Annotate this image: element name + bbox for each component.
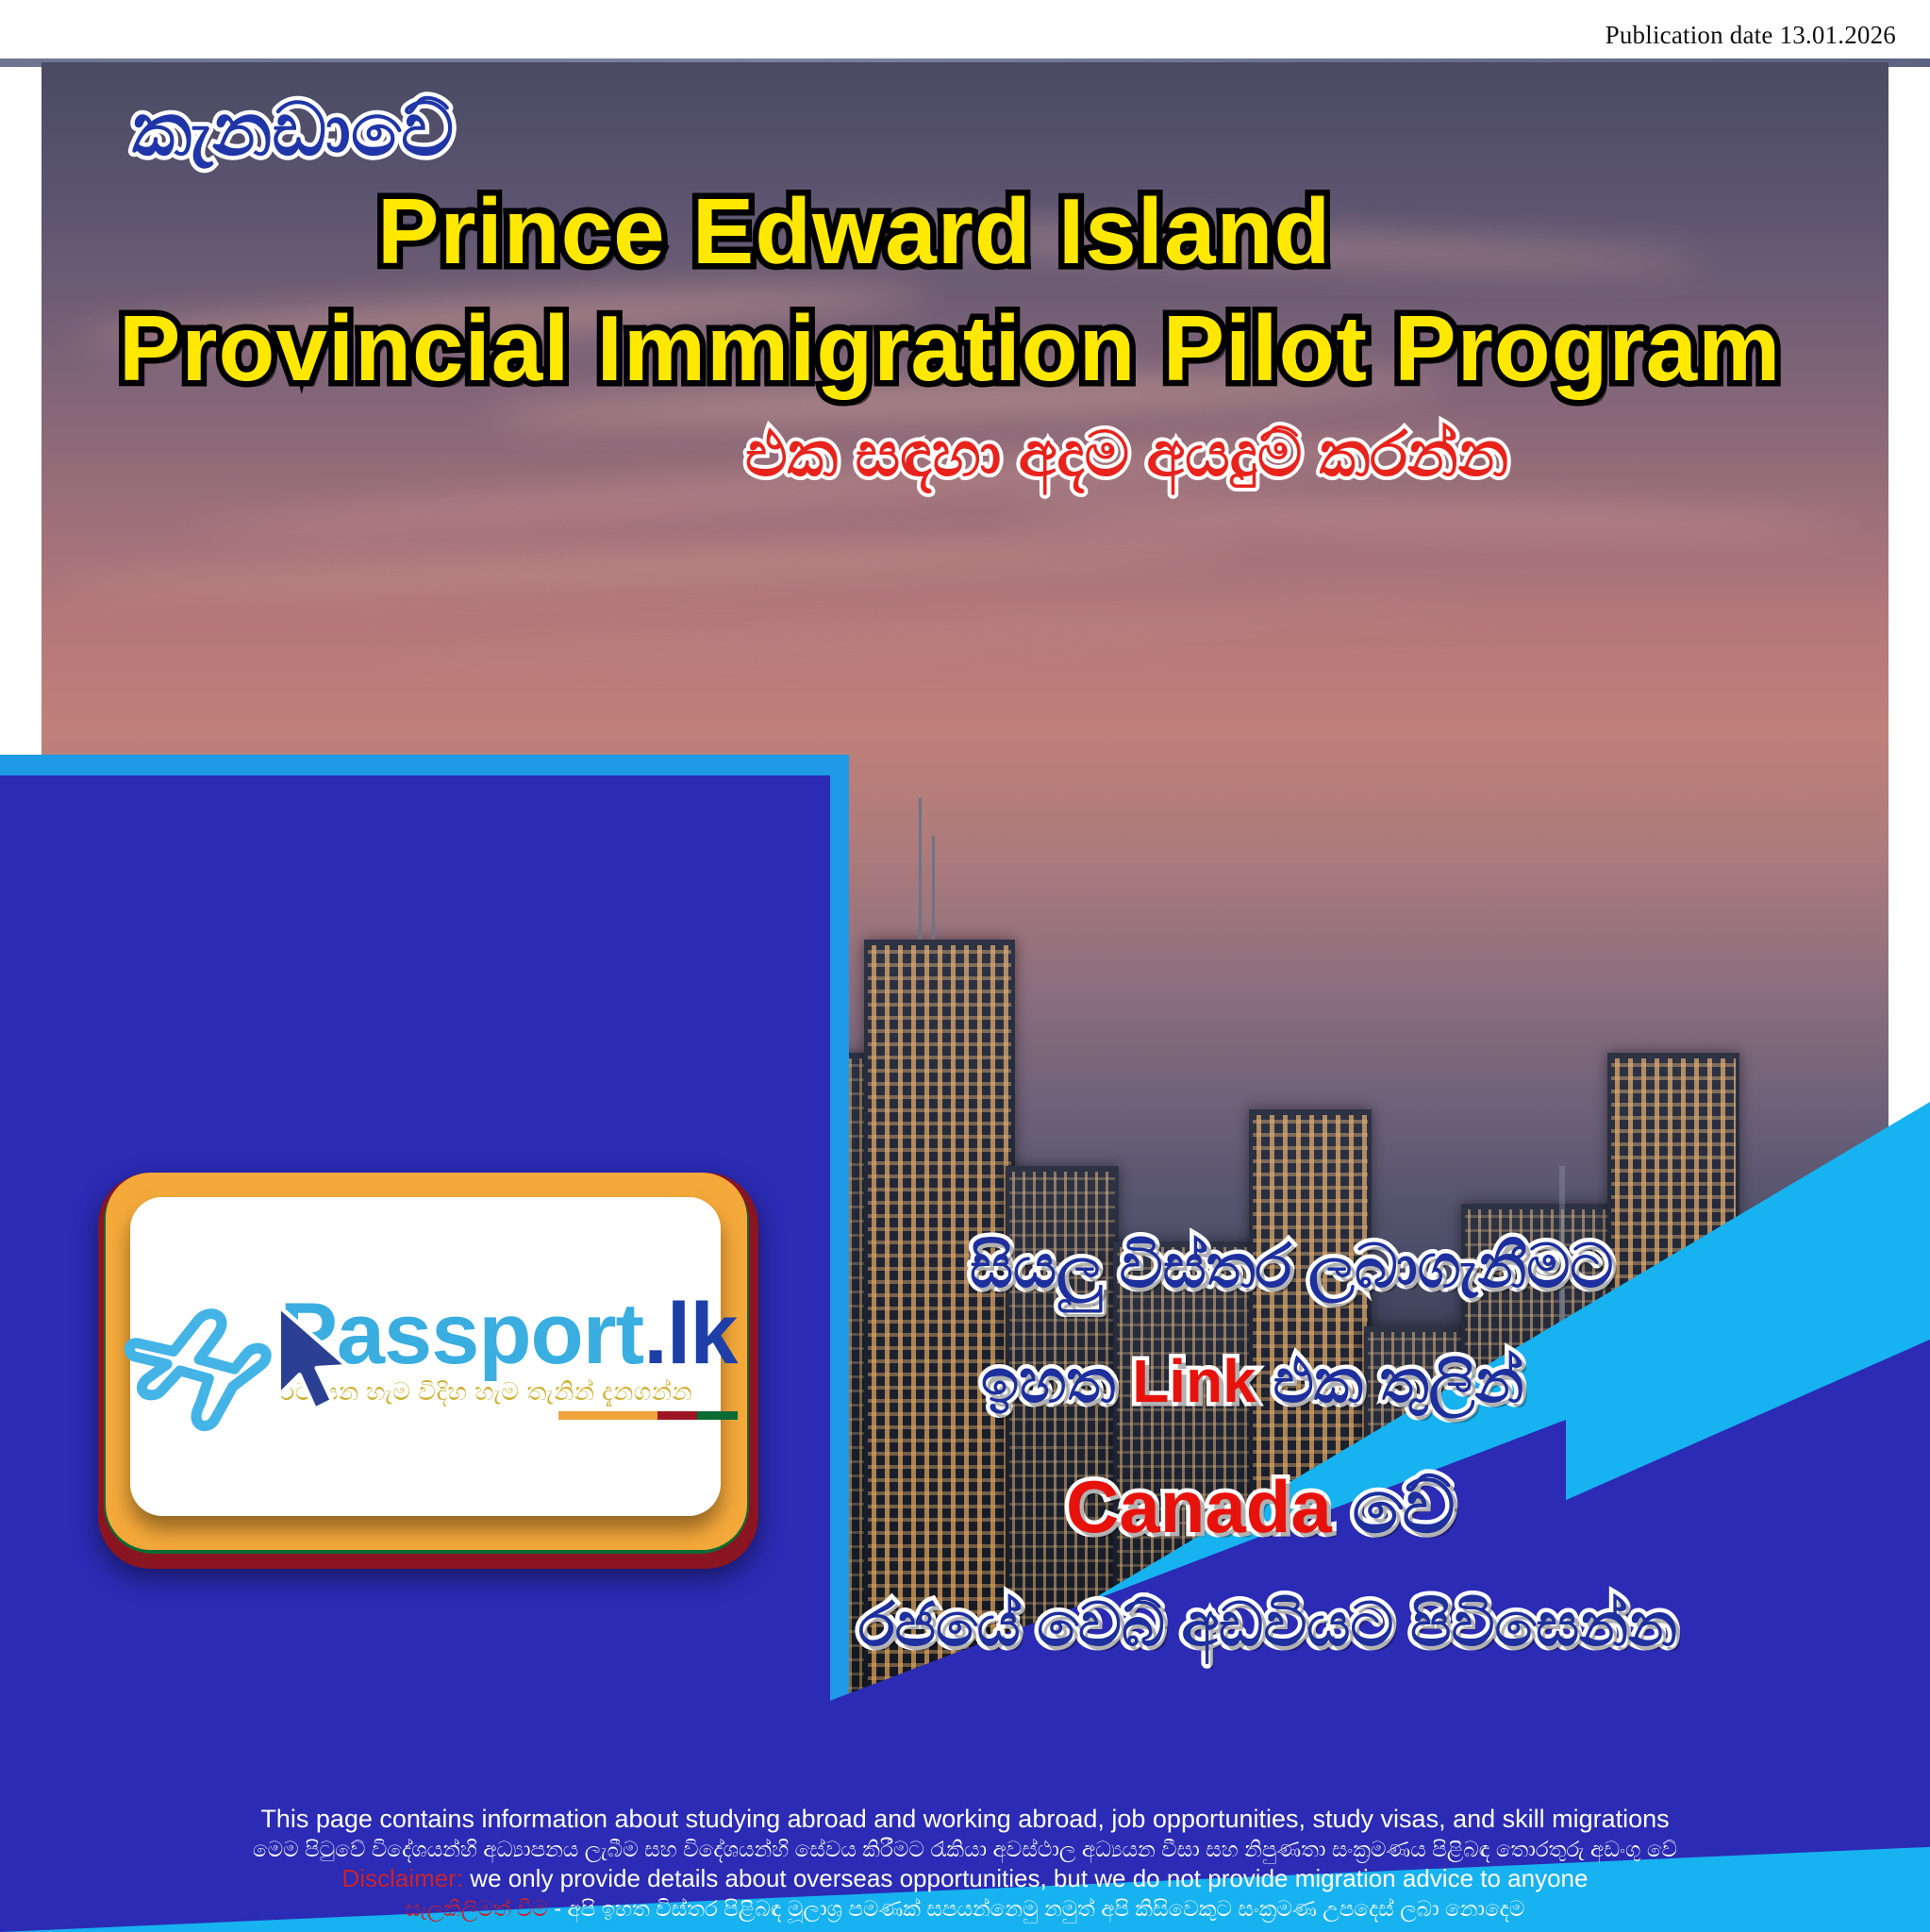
cta-line-canada: Canada වේ bbox=[1066, 1470, 1456, 1543]
headline-english-line2: Provincial Immigration Pilot Program bbox=[119, 302, 1781, 394]
cta-link-word[interactable]: Link bbox=[1132, 1347, 1256, 1415]
flag-stripe-orange bbox=[558, 1411, 658, 1420]
cta-link-after: එක තුලින් bbox=[1273, 1347, 1524, 1415]
disclaimer-si-label: සැලකිලිමත් වීම bbox=[406, 1896, 548, 1921]
poster-canvas: Publication date 13.01.2026 bbox=[0, 0, 1930, 1932]
cta-link-before: ඉහත bbox=[981, 1347, 1115, 1415]
footer-sinhala-info: මෙම පිටුවේ විදේශයන්හි අධ්‍යාපනය ලැබීම සහ… bbox=[0, 1836, 1930, 1863]
publication-date: Publication date 13.01.2026 bbox=[1606, 21, 1896, 50]
cta-canada-after: වේ bbox=[1352, 1465, 1455, 1548]
flag-stripe-red bbox=[657, 1411, 697, 1420]
disclaimer-si-body: - අපි ඉහත විස්තර පිළිබඳ මූලාශ්‍ර පමණක් ස… bbox=[548, 1896, 1524, 1921]
brand-name-tld: .lk bbox=[643, 1293, 737, 1375]
footer-disclaimer-en: Disclaimer: we only provide details abou… bbox=[0, 1863, 1930, 1894]
sri-lanka-flag-bar bbox=[558, 1411, 738, 1420]
cta-canada-word: Canada bbox=[1066, 1465, 1332, 1548]
headline-sinhala-red: එක සඳහා අදම අයදුම් කරන්න bbox=[745, 423, 1508, 485]
headline-english-line1: Prince Edward Island bbox=[377, 185, 1331, 277]
logo-card: Passport .lk රට යන හැම විදිහ හැම තැනින් … bbox=[98, 1173, 758, 1569]
flag-stripe-green bbox=[697, 1411, 737, 1420]
cta-line-govsite: රජයේ වෙබ් අඩවියට පිවිසෙන්න bbox=[858, 1594, 1677, 1655]
cta-line-link: ඉහත Link එක තුලින් bbox=[981, 1351, 1523, 1411]
antenna-mast bbox=[932, 836, 935, 940]
headline-sinhala-top: කැනඩාවේ bbox=[132, 92, 454, 166]
footer-disclaimer-si: සැලකිලිමත් වීම - අපි ඉහත විස්තර පිළිබඳ ම… bbox=[0, 1895, 1930, 1923]
airplane-icon bbox=[114, 1279, 275, 1440]
disclaimer-body: we only provide details about overseas o… bbox=[463, 1864, 1588, 1892]
cta-line-details: සියලු විස්තර ලබාගැනීමට bbox=[970, 1236, 1613, 1296]
antenna-mast bbox=[919, 798, 922, 940]
logo-inner-panel: Passport .lk රට යන හැම විදිහ හැම තැනින් … bbox=[130, 1197, 721, 1516]
cursor-arrow-icon bbox=[272, 1303, 375, 1416]
footer-english-info: This page contains information about stu… bbox=[0, 1803, 1930, 1836]
footer-text-block: This page contains information about stu… bbox=[0, 1803, 1930, 1923]
disclaimer-label: Disclaimer: bbox=[342, 1864, 464, 1892]
